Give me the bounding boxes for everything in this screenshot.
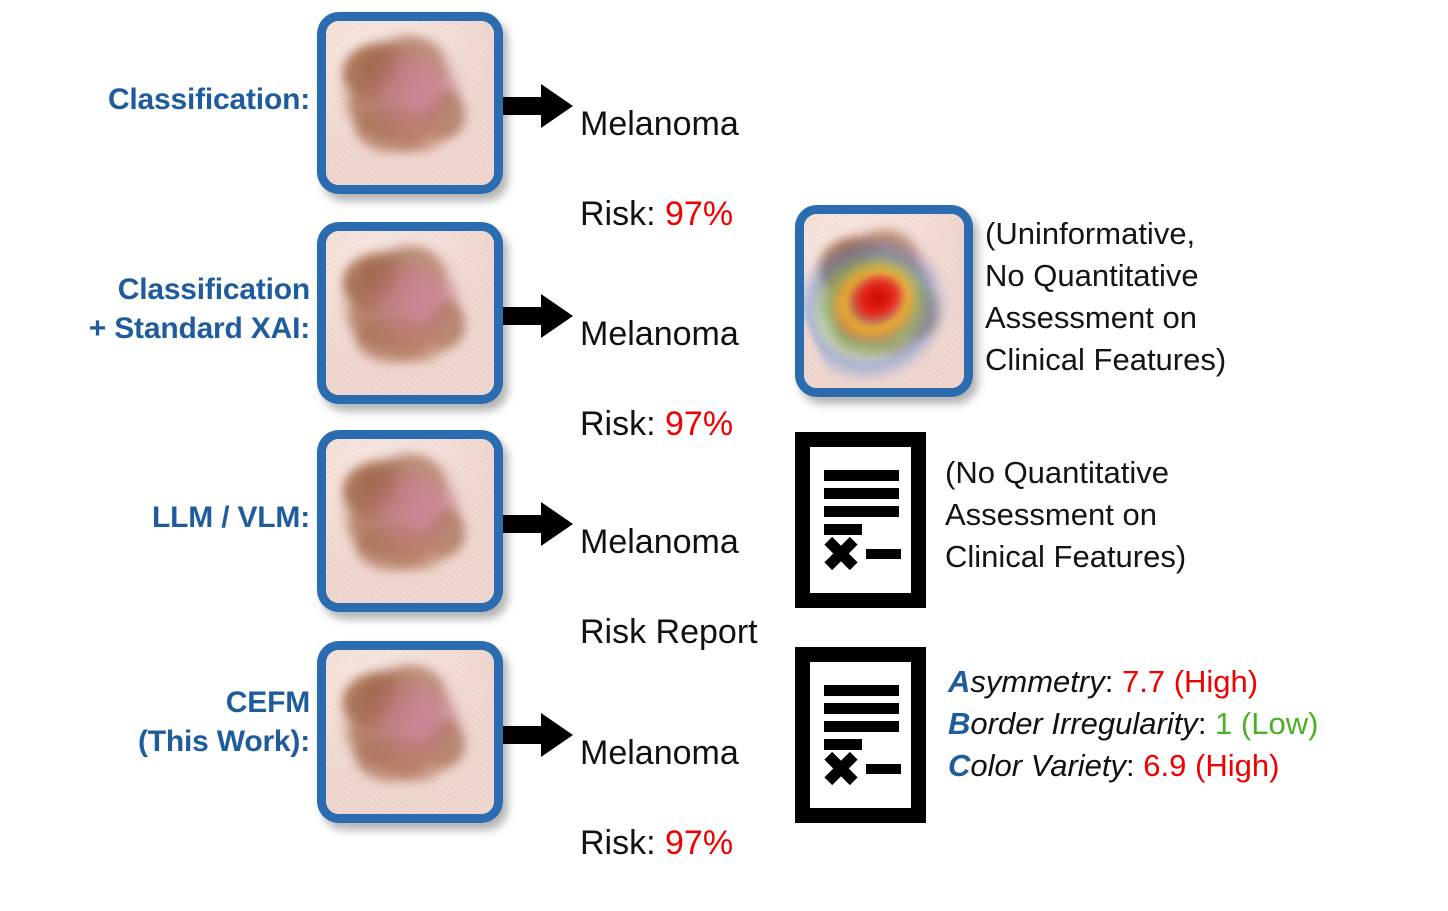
output-line2: Risk: 97% bbox=[580, 821, 910, 866]
row-label-classification-xai: Classification + Standard XAI: bbox=[20, 270, 310, 348]
lesion-blob bbox=[326, 21, 494, 185]
feature-level-text: (High) bbox=[1195, 748, 1279, 783]
risk-prefix: Risk: bbox=[580, 195, 665, 233]
risk-value: 97% bbox=[665, 824, 733, 862]
lesion-thumbnail-row4 bbox=[317, 641, 503, 823]
saliency-heatmap-overlay bbox=[804, 214, 964, 388]
lesion-image bbox=[326, 231, 494, 395]
feature-initial: C bbox=[948, 748, 970, 783]
feature-row-border-irregularity: Border Irregularity: 1 (Low) bbox=[948, 703, 1448, 745]
lesion-thumbnail-row1 bbox=[317, 12, 503, 194]
feature-row-asymmetry: Asymmetry: 7.7 (High) bbox=[948, 661, 1448, 703]
feature-initial: B bbox=[948, 706, 970, 741]
feature-separator: : bbox=[1105, 664, 1122, 699]
feature-level-text: (High) bbox=[1174, 664, 1258, 699]
figure-canvas: Classification: Melanoma Risk: 97% Class… bbox=[0, 0, 1448, 860]
risk-value: 97% bbox=[665, 405, 733, 443]
feature-value: 7.7 bbox=[1122, 664, 1165, 699]
lesion-image bbox=[326, 650, 494, 814]
feature-initial: A bbox=[948, 664, 970, 699]
note-row2: (Uninformative, No Quantitative Assessme… bbox=[985, 213, 1425, 381]
clinical-features-list: Asymmetry: 7.7 (High) Border Irregularit… bbox=[948, 661, 1448, 787]
lesion-image bbox=[326, 439, 494, 603]
feature-level bbox=[1232, 706, 1241, 741]
lesion-blob bbox=[326, 439, 494, 603]
feature-separator: : bbox=[1198, 706, 1215, 741]
feature-value: 6.9 bbox=[1143, 748, 1186, 783]
heatmap-thumbnail-row2 bbox=[795, 205, 973, 397]
right-arrow-icon-row2 bbox=[503, 292, 573, 340]
lesion-blob bbox=[326, 650, 494, 814]
lesion-thumbnail-row3 bbox=[317, 430, 503, 612]
lesion-blob bbox=[326, 231, 494, 395]
risk-prefix: Risk: bbox=[580, 405, 665, 443]
note-row3: (No Quantitative Assessment on Clinical … bbox=[945, 452, 1385, 578]
feature-name: order Irregularity bbox=[970, 706, 1197, 741]
lesion-image bbox=[326, 21, 494, 185]
lesion-thumbnail-row2 bbox=[317, 222, 503, 404]
row-label-classification: Classification: bbox=[20, 80, 310, 119]
feature-separator: : bbox=[1126, 748, 1143, 783]
right-arrow-icon-row1 bbox=[503, 82, 573, 130]
report-document-icon-row3 bbox=[793, 430, 928, 610]
feature-name: olor Variety bbox=[970, 748, 1126, 783]
feature-level bbox=[1165, 664, 1174, 699]
row-label-cefm: CEFM (This Work): bbox=[20, 683, 310, 761]
report-document-icon-row4 bbox=[793, 645, 928, 825]
output-line1: Melanoma bbox=[580, 102, 910, 147]
risk-prefix: Risk: bbox=[580, 824, 665, 862]
heatmap-image bbox=[804, 214, 964, 388]
feature-row-color-variety: Color Variety: 6.9 (High) bbox=[948, 745, 1448, 787]
feature-level bbox=[1186, 748, 1195, 783]
right-arrow-icon-row3 bbox=[503, 500, 573, 548]
row-label-llm-vlm: LLM / VLM: bbox=[20, 498, 310, 537]
right-arrow-icon-row4 bbox=[503, 711, 573, 759]
feature-name: symmetry bbox=[970, 664, 1104, 699]
feature-level-text: (Low) bbox=[1241, 706, 1319, 741]
risk-value: 97% bbox=[665, 195, 733, 233]
feature-value: 1 bbox=[1215, 706, 1232, 741]
